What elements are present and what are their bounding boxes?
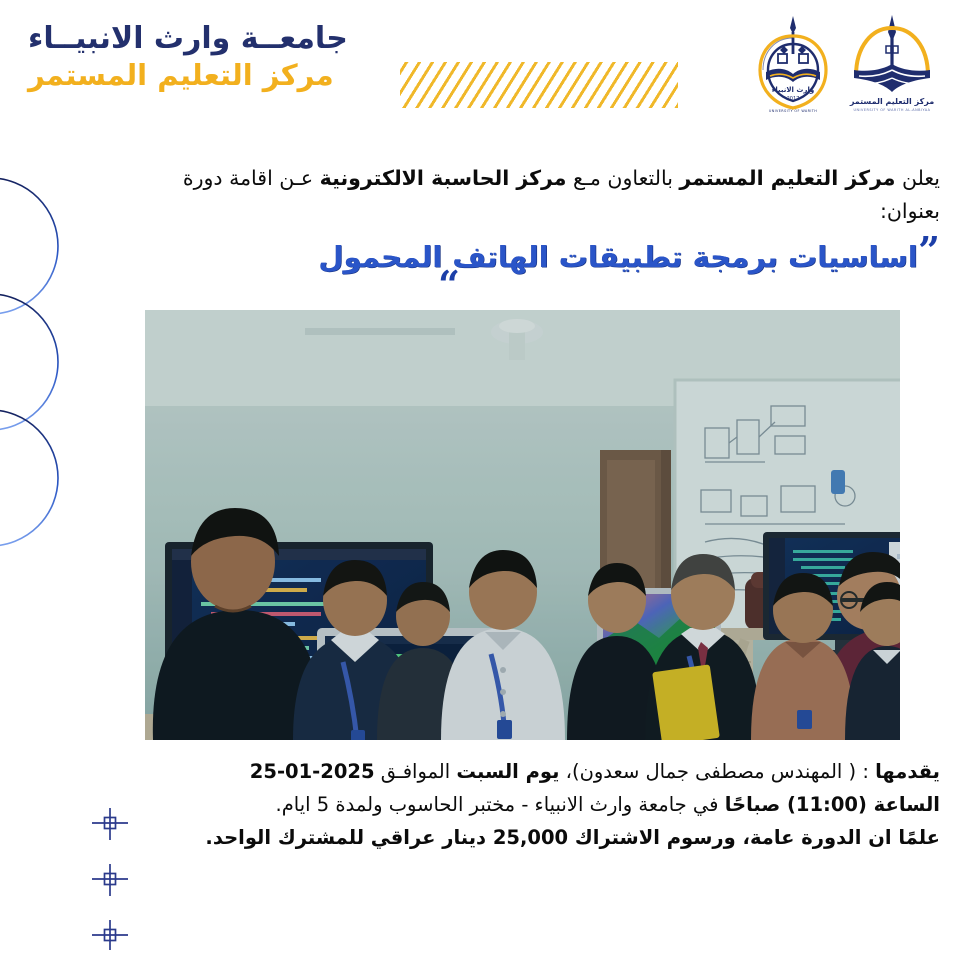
brand-block: جامعــة وارث الانبيــاء مركز التعليم الم… (28, 22, 360, 91)
announce-bold-partner: مركز الحاسبة الالكترونية (320, 166, 567, 190)
diagonal-stripes-decoration (400, 62, 678, 108)
cross-marks-decoration (88, 808, 132, 950)
svg-text:وارث الانبياء: وارث الانبياء (772, 86, 814, 94)
course-photo (145, 310, 900, 740)
course-details: يقدمها : ( المهندس مصطفى جمال سعدون)، يو… (140, 756, 940, 854)
center-name: مركز التعليم المستمر (28, 59, 360, 91)
left-arc-grid-decoration (0, 166, 120, 558)
announce-seg-1: يعلن (895, 166, 940, 190)
quote-close-icon: “ (438, 266, 460, 304)
poster-canvas: جامعــة وارث الانبيــاء مركز التعليم الم… (0, 0, 960, 960)
university-name: جامعــة وارث الانبيــاء (28, 22, 360, 56)
continuing-education-center-logo: مركز التعليم المستمر UNIVERSITY OF WARIT… (846, 12, 938, 116)
announce-seg-2: بالتعاون مـع (567, 166, 680, 190)
details-date: 2025-01-25 (250, 760, 375, 783)
details-date-prefix: الموافـق (375, 760, 457, 783)
svg-text:2017: 2017 (787, 96, 800, 102)
university-seal-logo: وارث الانبياء 2017 UNIVERSITY OF WARITH (750, 12, 836, 116)
details-presenter-label: يقدمها (875, 760, 940, 783)
svg-text:UNIVERSITY OF WARITH AL-ANBIYA: UNIVERSITY OF WARITH AL-ANBIYAA (854, 108, 931, 112)
announcement-text: يعلن مركز التعليم المستمر بالتعاون مـع م… (140, 162, 940, 228)
poster-header: جامعــة وارث الانبيــاء مركز التعليم الم… (0, 0, 960, 132)
details-day: يوم السبت (456, 760, 559, 783)
details-fee: علمًا ان الدورة عامة، ورسوم الاشتراك 25,… (205, 826, 940, 849)
details-venue: في جامعة وارث الانبياء - مختبر الحاسوب و… (276, 793, 725, 816)
details-presenter-name: : ( المهندس مصطفى جمال سعدون)، (559, 760, 875, 783)
details-line-3: علمًا ان الدورة عامة، ورسوم الاشتراك 25,… (140, 822, 940, 855)
course-title: اساسيات برمجة تطبيقات الهاتف المحمول (319, 240, 918, 274)
svg-text:مركز التعليم المستمر: مركز التعليم المستمر (849, 97, 934, 106)
announce-bold-center: مركز التعليم المستمر (679, 166, 895, 190)
logo-group: وارث الانبياء 2017 UNIVERSITY OF WARITH … (742, 12, 942, 120)
details-line-1: يقدمها : ( المهندس مصطفى جمال سعدون)، يو… (140, 756, 940, 789)
details-line-2: الساعة (11:00) صباحًا في جامعة وارث الان… (140, 789, 940, 822)
details-time: الساعة (11:00) صباحًا (725, 793, 940, 816)
svg-text:UNIVERSITY OF WARITH: UNIVERSITY OF WARITH (769, 109, 817, 113)
course-title-block: ” اساسيات برمجة تطبيقات الهاتف المحمول “ (150, 232, 940, 306)
quote-open-icon: ” (918, 232, 940, 270)
